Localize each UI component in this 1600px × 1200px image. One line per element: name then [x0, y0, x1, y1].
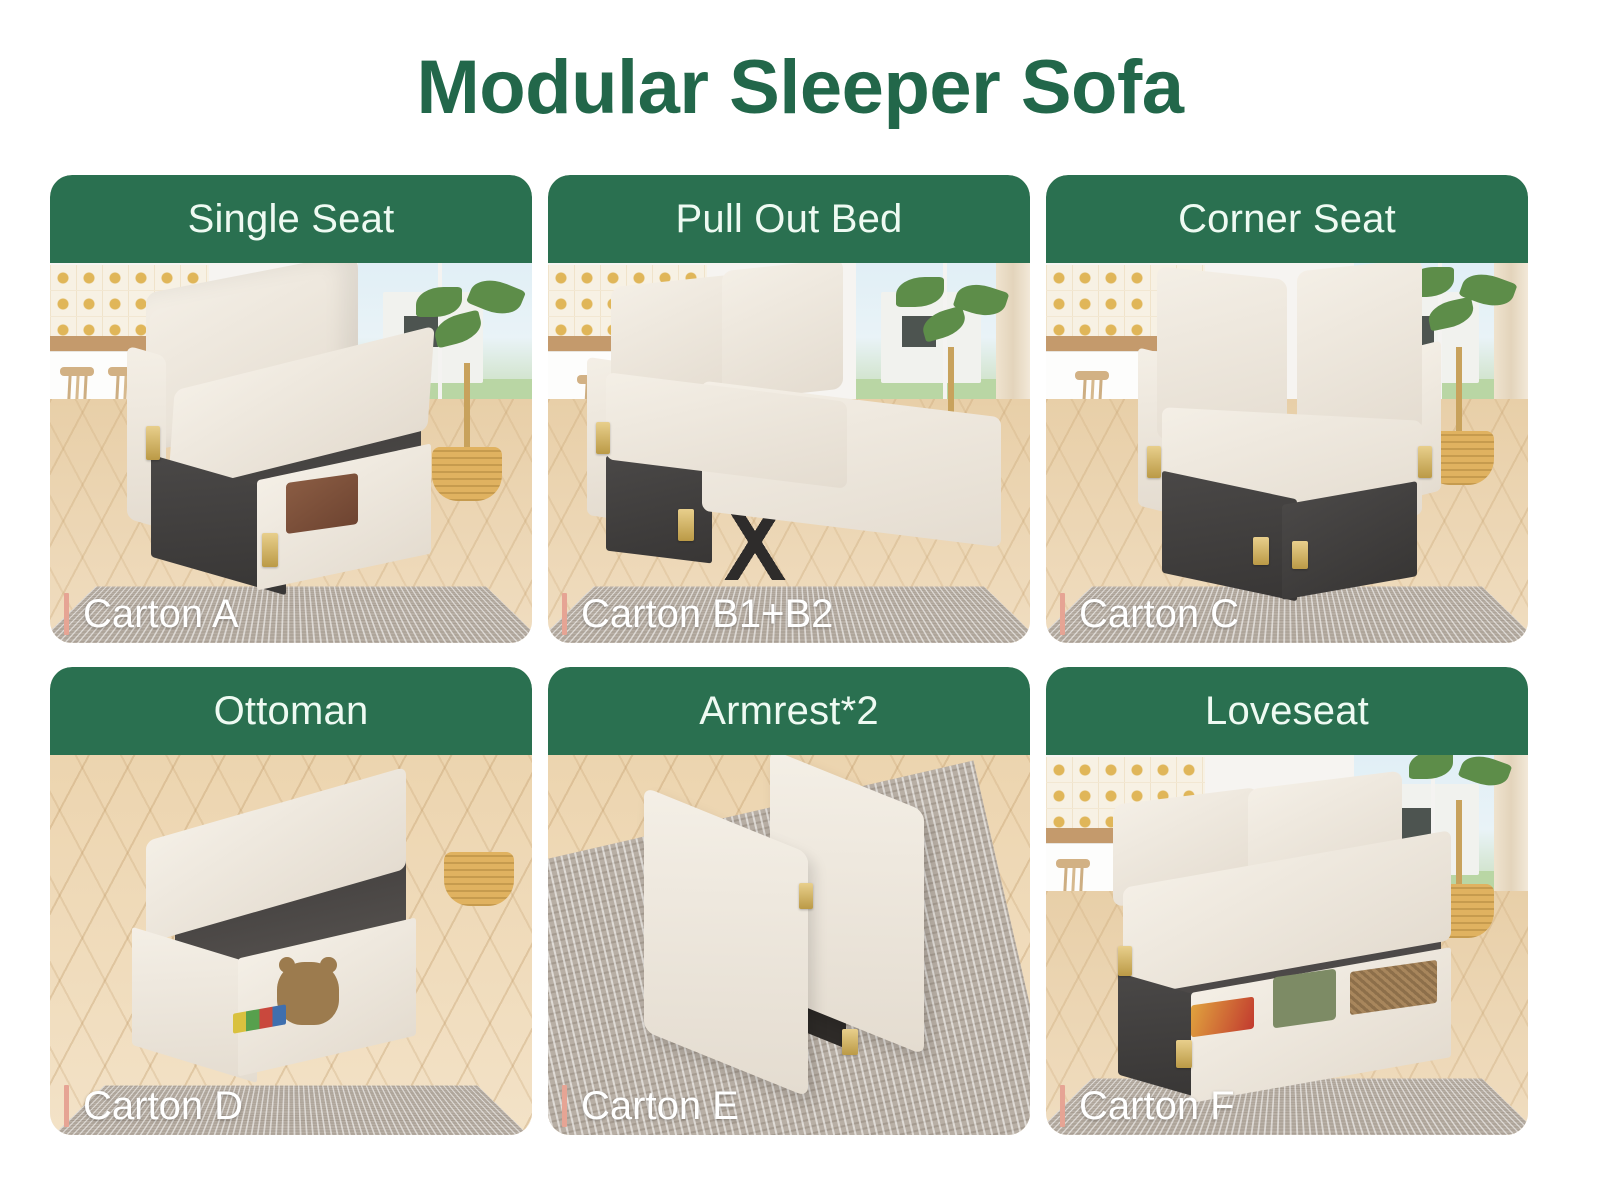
carton-label: Carton F [1079, 1086, 1235, 1126]
card-armrest[interactable]: Armrest*2 Carton E [548, 667, 1030, 1135]
plant-leaf [416, 287, 462, 317]
brown-pillow [286, 472, 358, 533]
gold-bracket [1292, 541, 1308, 569]
potted-plant [436, 773, 522, 907]
carton-caption-a: Carton A [64, 593, 239, 635]
woven-basket-pot [444, 852, 514, 906]
carton-caption-b: Carton B1+B2 [562, 593, 833, 635]
card-title: Armrest*2 [699, 691, 879, 731]
card-header-pull-out-bed: Pull Out Bed [548, 175, 1030, 263]
gold-bracket [678, 509, 694, 541]
accent-bar-icon [64, 1085, 69, 1127]
product-module-grid: Single Seat Carton A [0, 175, 1600, 1135]
infographic-page: Modular Sleeper Sofa [0, 0, 1600, 1200]
gold-bracket [1418, 446, 1432, 478]
card-header-single-seat: Single Seat [50, 175, 532, 263]
card-header-armrest: Armrest*2 [548, 667, 1030, 755]
bed-base [606, 455, 712, 563]
plant-leaf [896, 277, 944, 307]
carton-label: Carton B1+B2 [581, 594, 833, 634]
accent-bar-icon [562, 593, 567, 635]
photo-armrest [548, 741, 1030, 1135]
gold-bracket [842, 1029, 858, 1055]
room-scene [50, 249, 532, 643]
carton-caption-c: Carton C [1060, 593, 1239, 635]
carton-label: Carton E [581, 1086, 739, 1126]
gold-bracket [596, 422, 610, 454]
photo-pull-out-bed [548, 249, 1030, 643]
photo-ottoman [50, 741, 532, 1135]
card-title: Loveseat [1205, 691, 1369, 731]
plant-leaf [1409, 751, 1453, 779]
accent-bar-icon [562, 1085, 567, 1127]
photo-loveseat [1046, 741, 1528, 1135]
room-scene [50, 741, 532, 1135]
back-cushion-right [722, 258, 843, 401]
accent-bar-icon [1060, 1085, 1065, 1127]
card-header-corner-seat: Corner Seat [1046, 175, 1528, 263]
room-scene [548, 249, 1030, 643]
plant-trunk [1456, 800, 1462, 890]
carton-label: Carton C [1079, 594, 1239, 634]
photo-single-seat [50, 249, 532, 643]
plant-leaf [919, 305, 968, 342]
card-single-seat[interactable]: Single Seat Carton A [50, 175, 532, 643]
gold-bracket [1118, 946, 1132, 976]
card-loveseat[interactable]: Loveseat Carton F [1046, 667, 1528, 1135]
card-ottoman[interactable]: Ottoman Carton D [50, 667, 532, 1135]
gold-bracket [1147, 446, 1161, 478]
carton-label: Carton A [83, 594, 239, 634]
room-scene [1046, 249, 1528, 643]
gold-bracket [146, 426, 160, 460]
card-header-ottoman: Ottoman [50, 667, 532, 755]
card-title: Corner Seat [1178, 199, 1396, 239]
card-title: Pull Out Bed [676, 199, 903, 239]
plant-leaf [1425, 296, 1475, 331]
title-bar: Modular Sleeper Sofa [0, 0, 1600, 175]
woven-basket-pot [432, 447, 502, 501]
green-pillow [1273, 969, 1336, 1029]
page-title: Modular Sleeper Sofa [416, 50, 1183, 126]
card-title: Single Seat [188, 199, 395, 239]
accent-bar-icon [64, 593, 69, 635]
room-scene [548, 741, 1030, 1135]
photo-corner-seat [1046, 249, 1528, 643]
carton-caption-f: Carton F [1060, 1085, 1235, 1127]
accent-bar-icon [1060, 593, 1065, 635]
card-title: Ottoman [214, 691, 369, 731]
gold-bracket [799, 883, 813, 909]
carton-caption-e: Carton E [562, 1085, 739, 1127]
carton-label: Carton D [83, 1086, 243, 1126]
plant-trunk [1456, 347, 1462, 437]
card-corner-seat[interactable]: Corner Seat Carton C [1046, 175, 1528, 643]
gold-bracket [1253, 537, 1269, 565]
gold-bracket [1176, 1040, 1192, 1068]
plant-leaf [1457, 750, 1512, 793]
carton-caption-d: Carton D [64, 1085, 243, 1127]
card-header-loveseat: Loveseat [1046, 667, 1528, 755]
card-pull-out-bed[interactable]: Pull Out Bed Carton B1+B2 [548, 175, 1030, 643]
plant-trunk [464, 363, 470, 453]
gold-bracket [262, 533, 278, 567]
room-scene [1046, 741, 1528, 1135]
